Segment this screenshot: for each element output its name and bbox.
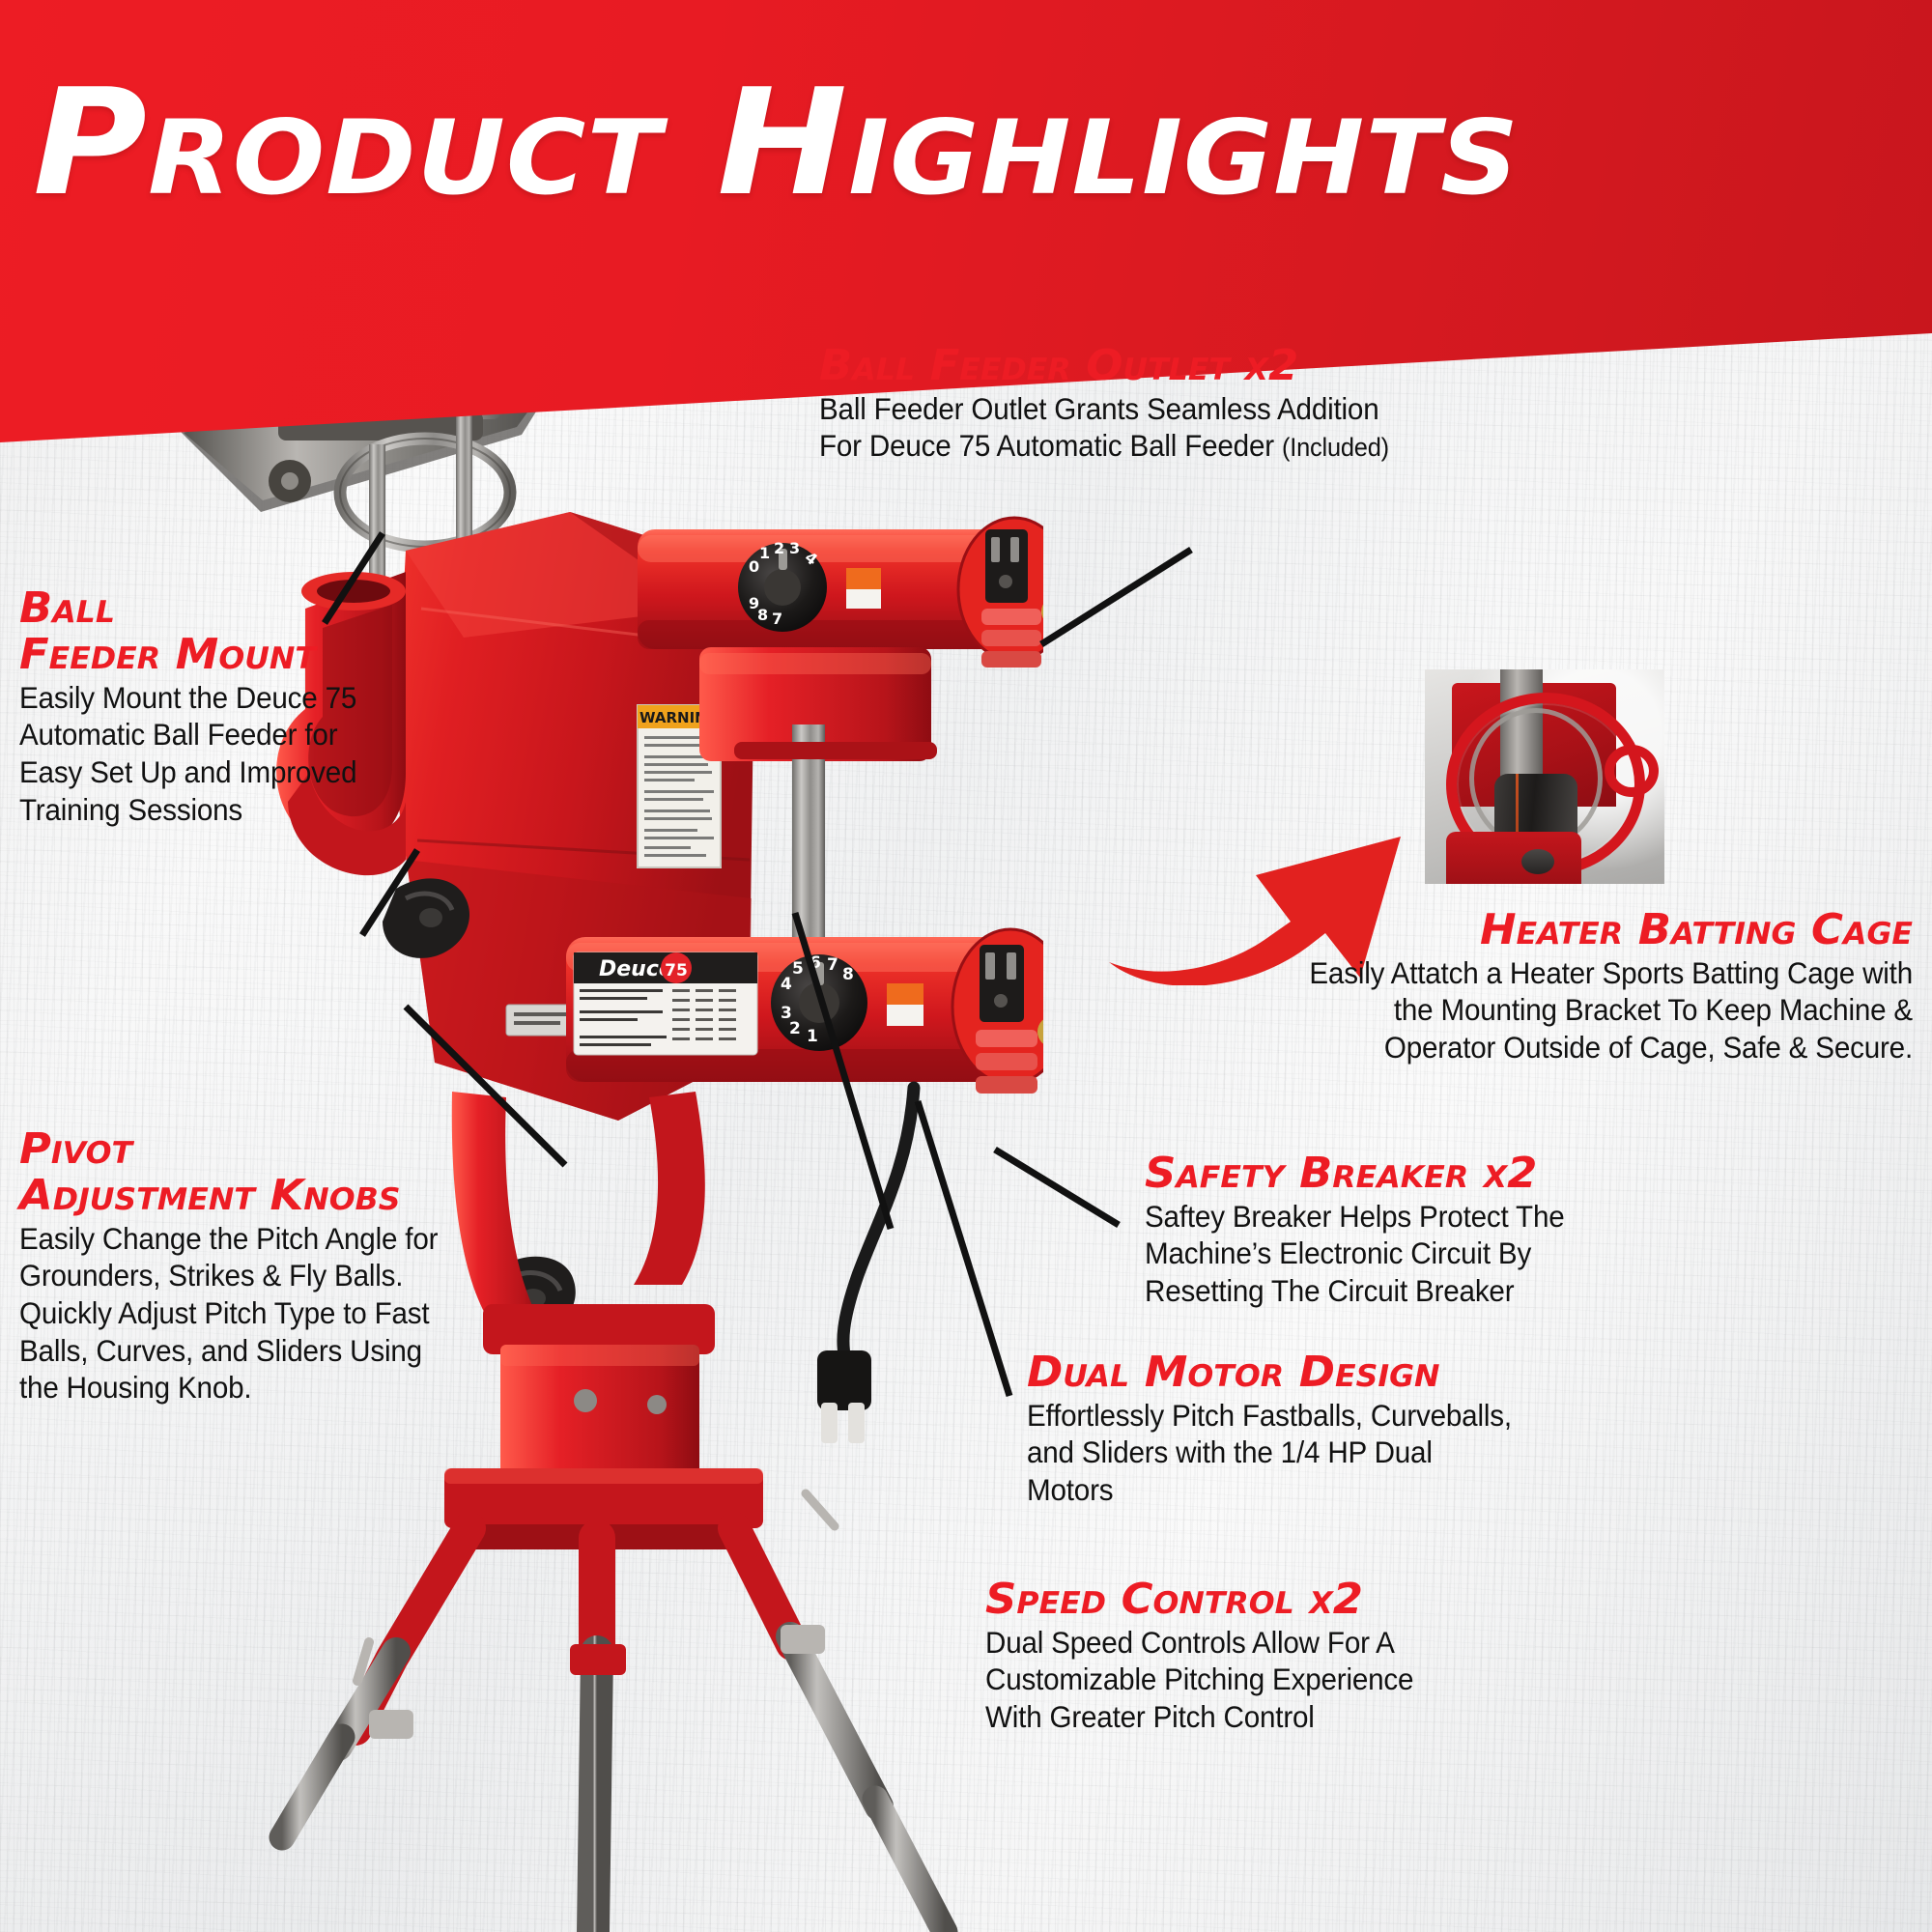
infographic-page: Product Highlights [0,0,1932,1932]
callout-line: Training Sessions [19,792,242,827]
callout-heading-heater-batting-cage: Heater Batting Cage [947,908,1913,952]
callout-line: the Housing Knob. [19,1370,251,1405]
callout-heading-ball-feeder-outlet: Ball Feeder Outlet x2 [819,344,1568,388]
svg-text:7: 7 [827,955,838,975]
callout-line: Operator Outside of Cage, Safe & Secure. [1384,1030,1913,1065]
callout-body-ball-feeder-outlet: Ball Feeder Outlet Grants Seamless Addit… [819,390,1509,465]
inset-photo-batting-cage-bracket [1425,669,1664,884]
callout-line: the Mounting Bracket To Keep Machine & [1394,992,1913,1027]
svg-text:0: 0 [749,557,759,576]
callout-note: (Included) [1282,433,1389,462]
svg-text:8: 8 [757,606,768,624]
speed-chart-label: Deuce 75 [574,952,757,1055]
callout-line: Saftey Breaker Helps Protect The [1145,1199,1565,1234]
inset-base [1446,832,1581,884]
callout-line: Resetting The Circuit Breaker [1145,1273,1514,1308]
callout-line: Easily Attatch a Heater Sports Batting C… [1309,955,1913,990]
callout-line: Easy Set Up and Improved [19,754,356,789]
callout-heading-ball-feeder-mount-l1: Ball [19,586,433,631]
callout-line: Balls, Curves, and Sliders Using [19,1333,422,1368]
callout-body-heater-batting-cage: Easily Attatch a Heater Sports Batting C… [1023,954,1913,1066]
callout-body-ball-feeder-mount: Easily Mount the Deuce 75 Automatic Ball… [19,679,401,829]
callout-heading-pivot-l1: Pivot [19,1127,512,1172]
callout-pivot-adjustment-knobs: Pivot Adjustment Knobs Easily Change the… [19,1127,502,1406]
callout-body-safety-breaker: Saftey Breaker Helps Protect The Machine… [1145,1198,1871,1310]
callout-line: Ball Feeder Outlet Grants Seamless Addit… [819,391,1378,426]
callout-line: Dual Speed Controls Allow For A [985,1625,1395,1660]
svg-text:4: 4 [781,975,792,994]
svg-text:3: 3 [789,539,800,557]
leader-ball-feeder-outlet [1041,550,1191,644]
callout-line: Grounders, Strikes & Fly Balls. [19,1258,403,1293]
tripod-legs [282,1493,945,1932]
callout-body-speed-control: Dual Speed Controls Allow For A Customiz… [985,1624,1748,1736]
product-photo: WARNING [116,319,1043,1932]
svg-text:75: 75 [665,961,688,980]
safety-breaker-top [981,609,1041,668]
power-cord [817,1088,914,1443]
svg-text:7: 7 [772,610,782,628]
callout-heading-dual-motor-design: Dual Motor Design [1027,1350,1874,1395]
callout-dual-motor-design: Dual Motor Design Effortlessly Pitch Fas… [1027,1350,1858,1509]
inset-hoop-eyelet [1605,745,1659,797]
callout-ball-feeder-mount: Ball Feeder Mount Easily Mount the Deuce… [19,586,425,828]
top-motor-assembly: 4 3 2 1 0 9 8 7 [638,518,1043,668]
callout-line: Easily Mount the Deuce 75 [19,680,356,715]
svg-text:2: 2 [789,1019,801,1038]
inset-pin [1521,849,1554,874]
svg-text:2: 2 [774,539,784,557]
page-title: Product Highlights [33,70,1932,216]
svg-text:1: 1 [759,544,770,562]
callout-line: Easily Change the Pitch Angle for [19,1221,438,1256]
ball-feeder-outlet-top [985,529,1028,603]
callout-ball-feeder-outlet: Ball Feeder Outlet x2 Ball Feeder Outlet… [819,344,1553,465]
callout-heater-batting-cage: Heater Batting Cage Easily Attatch a Hea… [966,908,1913,1066]
svg-text:8: 8 [842,965,854,984]
callout-heading-ball-feeder-mount-l2: Feeder Mount [19,633,433,677]
callout-safety-breaker: Safety Breaker x2 Saftey Breaker Helps P… [1145,1151,1918,1310]
callout-body-dual-motor-design: Effortlessly Pitch Fastballs, Curveballs… [1027,1397,1807,1509]
callout-line: Automatic Ball Feeder for [19,717,337,752]
callout-heading-safety-breaker: Safety Breaker x2 [1145,1151,1932,1196]
callout-heading-pivot-l2: Adjustment Knobs [19,1174,512,1218]
svg-text:5: 5 [792,959,804,979]
callout-line: For Deuce 75 Automatic Ball Feeder [819,428,1274,463]
callout-body-pivot: Easily Change the Pitch Angle for Ground… [19,1220,473,1407]
callout-line: and Sliders with the 1/4 HP Dual [1027,1435,1433,1469]
callout-line: Effortlessly Pitch Fastballs, Curveballs… [1027,1398,1512,1433]
callout-line: Machine’s Electronic Circuit By [1145,1236,1531,1270]
callout-line: Motors [1027,1472,1113,1507]
callout-line: With Greater Pitch Control [985,1699,1315,1734]
svg-text:6: 6 [810,953,821,973]
svg-text:1: 1 [807,1027,818,1046]
callout-line: Quickly Adjust Pitch Type to Fast [19,1295,429,1330]
callout-heading-speed-control: Speed Control x2 [985,1577,1813,1622]
callout-speed-control: Speed Control x2 Dual Speed Controls All… [985,1577,1797,1736]
callout-line: Customizable Pitching Experience [985,1662,1413,1696]
